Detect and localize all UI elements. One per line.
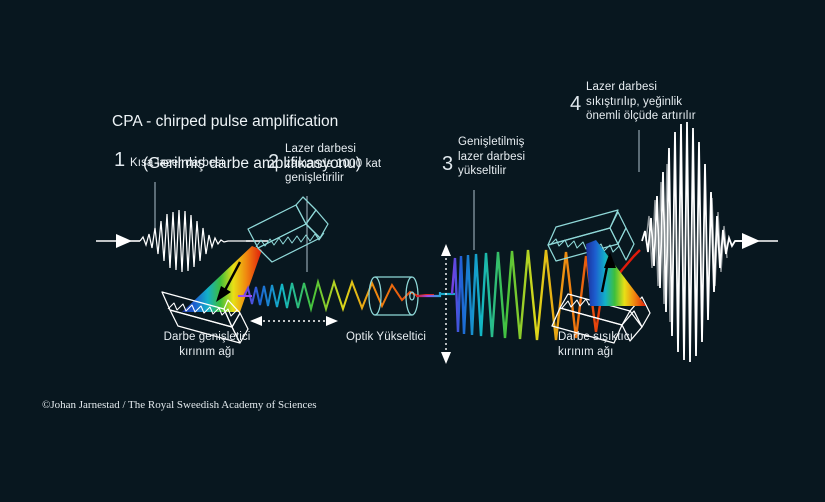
step-3-number: 3 xyxy=(442,154,453,174)
step-4-number: 4 xyxy=(570,94,581,114)
compressed-output-pulse-waveform xyxy=(642,122,742,362)
figure-title-line1: CPA - chirped pulse amplification xyxy=(112,111,442,132)
step-2-label: Lazer darbesi zamanda 1000 kat genişleti… xyxy=(285,142,420,186)
step-2-number: 2 xyxy=(268,152,279,172)
diagram-canvas xyxy=(0,0,825,502)
step-1-label: Kısa lazer darbesi xyxy=(130,156,260,171)
stretch-duration-double-arrow xyxy=(250,316,338,326)
output-beam-arrow xyxy=(735,233,778,249)
short-input-pulse-waveform xyxy=(140,210,250,272)
cpa-diagram-figure: CPA - chirped pulse amplification (Geril… xyxy=(0,0,825,502)
compressor-label: Darbe sışıktıcı kırınım ağı xyxy=(558,330,698,359)
stretcher-spectrum-fan xyxy=(182,246,262,312)
credit-text: ©Johan Jarnestad / The Royal Sweedish Ac… xyxy=(42,399,317,411)
optical-amplifier-cylinder xyxy=(369,277,418,315)
step-4-label: Lazer darbesi sıkıştırılıp, yeğinlik öne… xyxy=(586,80,746,124)
compressor-spectrum-fan xyxy=(586,240,646,306)
step-1-number: 1 xyxy=(114,150,125,170)
amplitude-double-arrow-vertical xyxy=(441,244,451,364)
stretcher-label: Darbe genişletici kırınım ağı xyxy=(137,330,277,359)
step-3-label: Genişletilmiş lazer darbesi yükseltilir xyxy=(458,135,578,179)
input-beam-arrow xyxy=(96,234,140,248)
amplifier-label: Optik Yükseltici xyxy=(346,330,456,345)
